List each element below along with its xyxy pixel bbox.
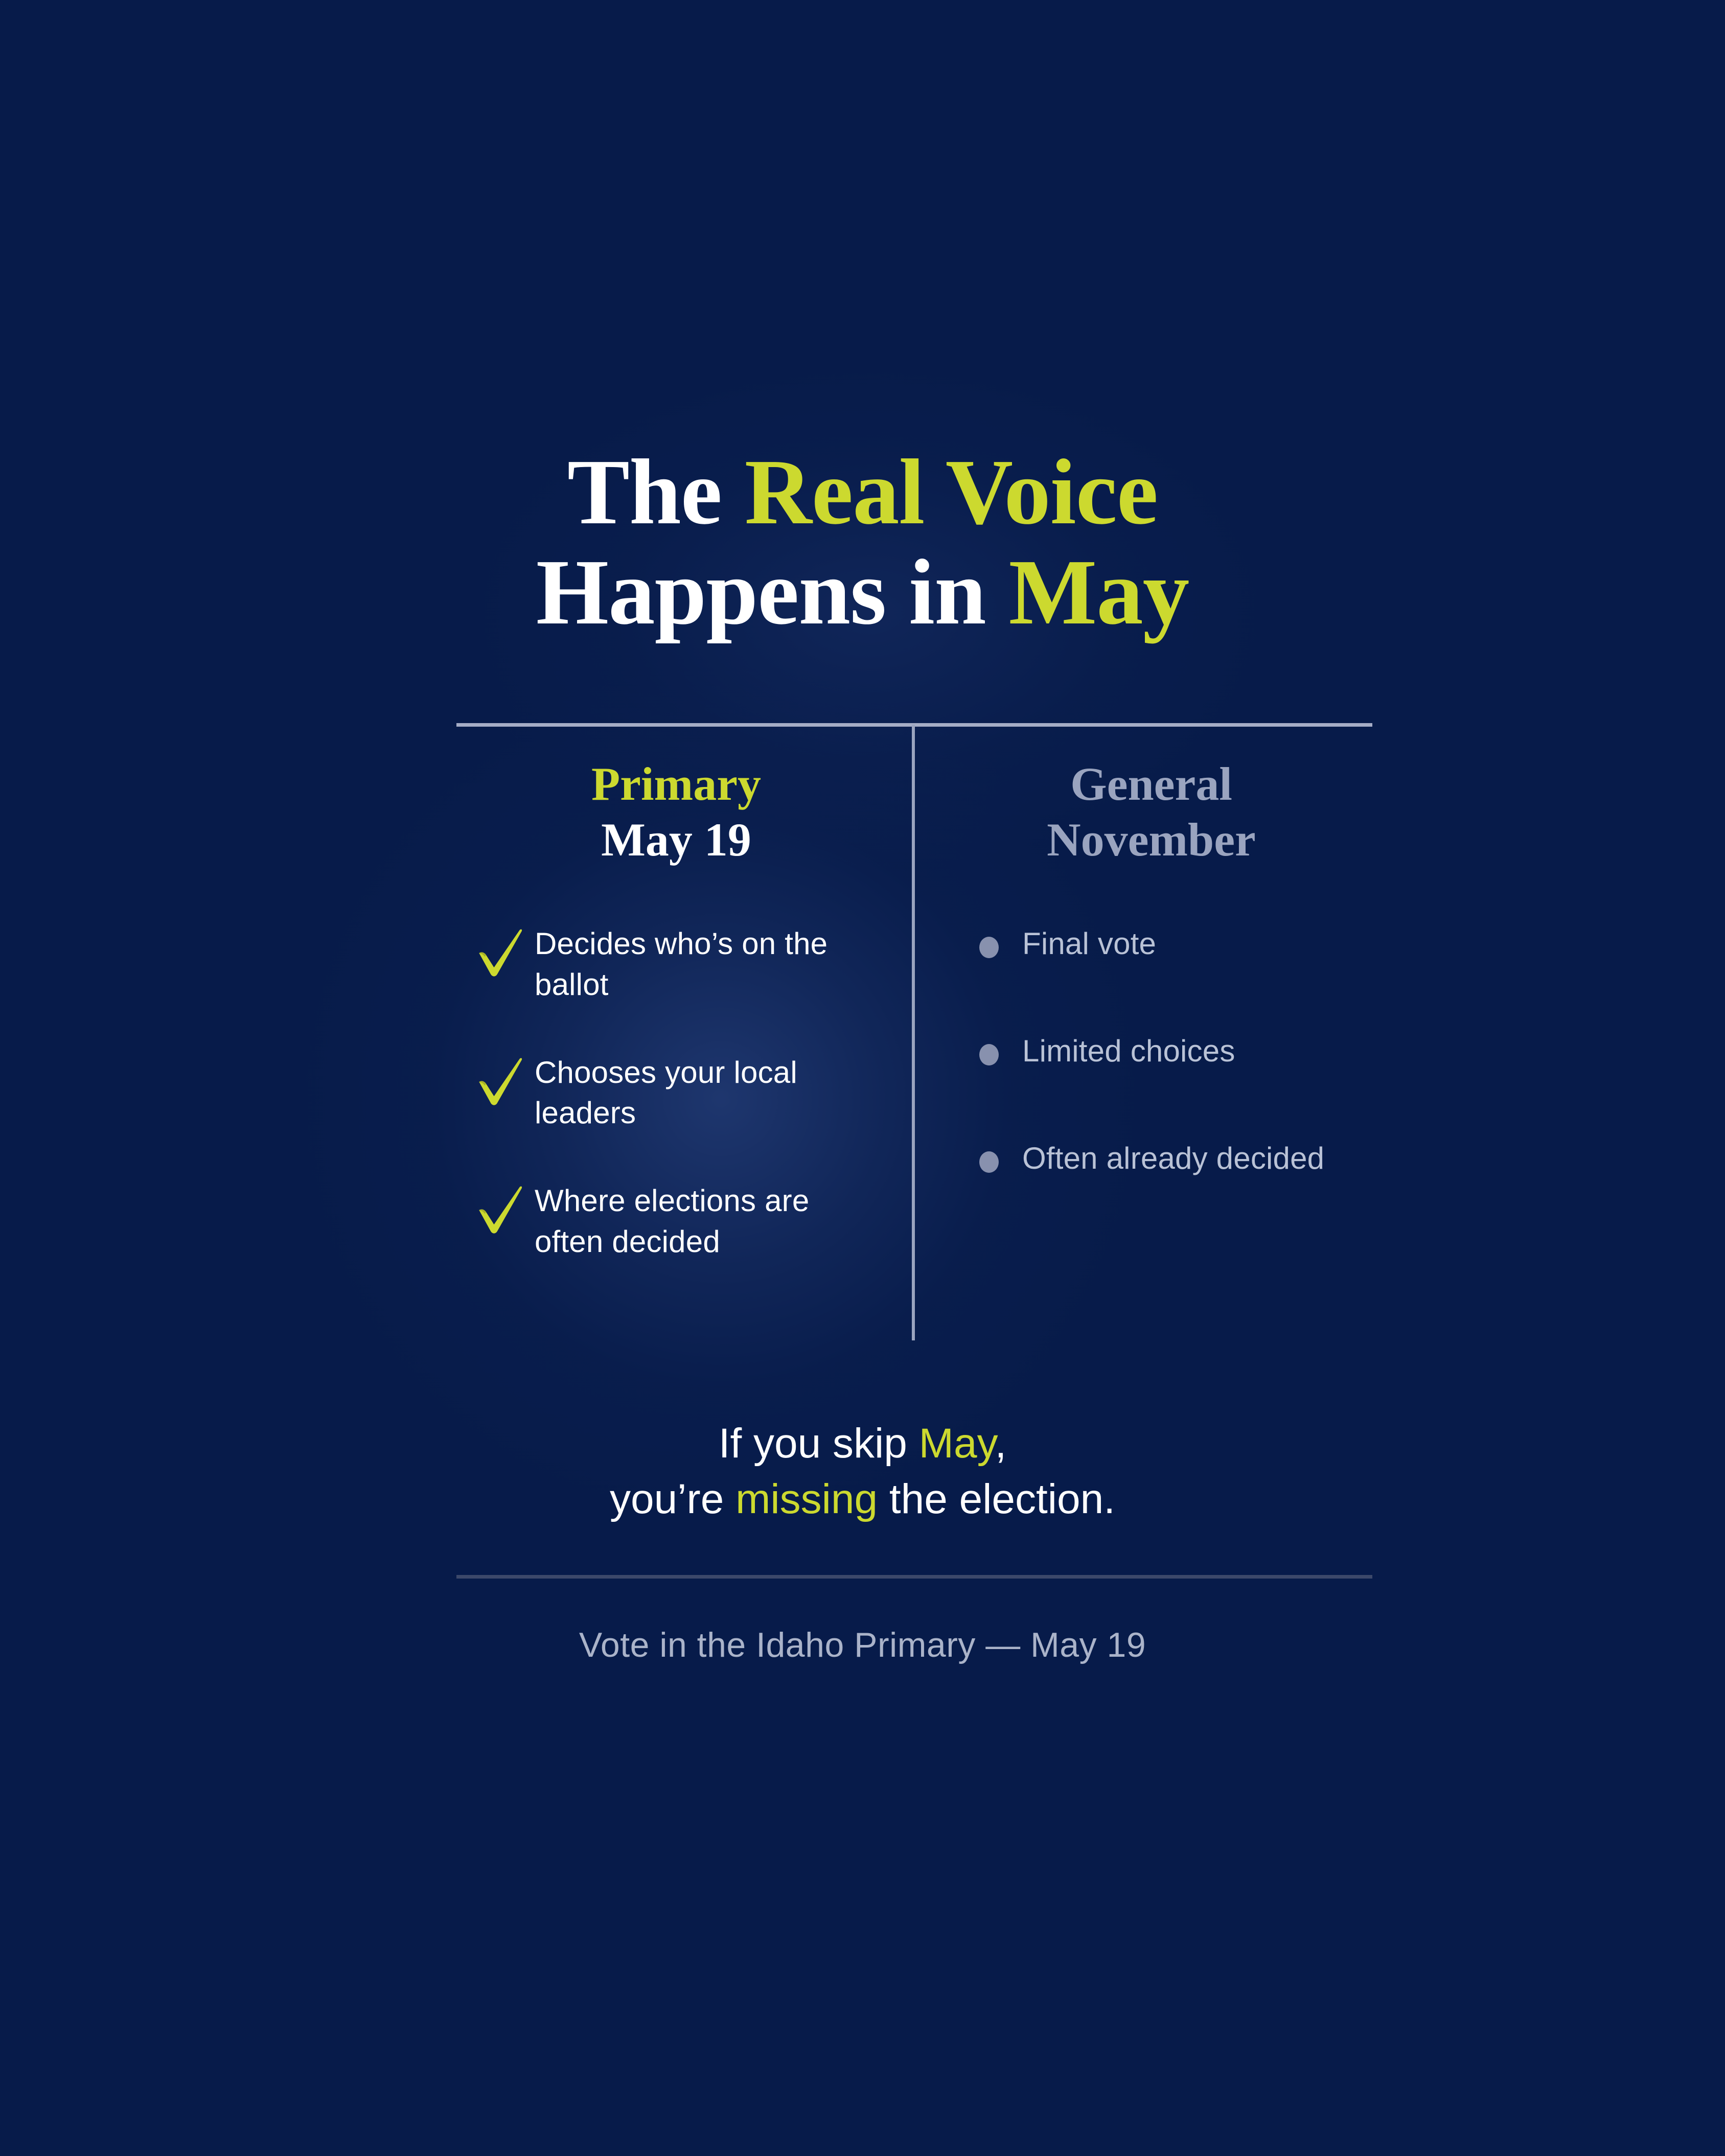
tagline-line-1-accent: May	[919, 1420, 995, 1467]
dot-icon	[956, 1138, 1022, 1173]
headline-line-1-plain: The	[567, 440, 745, 544]
column-primary-heading-title: Primary	[456, 756, 896, 812]
tagline-line-2-plain-b: the election.	[878, 1476, 1115, 1522]
column-primary-item-list: Decides who’s on the ballot Chooses your…	[456, 923, 896, 1262]
divider-bottom	[456, 1575, 1372, 1579]
footer-call-to-action: Vote in the Idaho Primary — May 19	[0, 1622, 1725, 1667]
list-item-label: Chooses your local leaders	[535, 1052, 852, 1134]
column-general-heading-date: November	[930, 812, 1372, 868]
list-item: Often already decided	[956, 1138, 1372, 1179]
headline-line-2-plain: Happens in	[536, 540, 1009, 644]
list-item-label: Decides who’s on the ballot	[535, 923, 852, 1005]
list-item-label: Final vote	[1022, 923, 1156, 964]
tagline: If you skip May, you’re missing the elec…	[0, 1416, 1725, 1527]
list-item-label: Often already decided	[1022, 1138, 1324, 1179]
list-item-label: Limited choices	[1022, 1031, 1235, 1072]
tagline-line-1-plain-b: ,	[995, 1420, 1006, 1467]
column-general-heading: General November	[930, 756, 1372, 867]
headline-line-1: The Real Voice	[0, 442, 1725, 542]
column-general-item-list: Final vote Limited choices Often already…	[930, 923, 1372, 1178]
column-general-heading-title: General	[930, 756, 1372, 812]
column-general: General November Final vote Limited choi…	[930, 756, 1372, 1245]
headline-line-2: Happens in May	[0, 542, 1725, 642]
poster-canvas: The Real Voice Happens in May Primary Ma…	[0, 0, 1725, 2156]
tagline-line-2: you’re missing the election.	[0, 1471, 1725, 1527]
check-icon	[466, 923, 535, 979]
column-primary: Primary May 19 Decides who’s on the ball…	[456, 756, 896, 1309]
tagline-line-1: If you skip May,	[0, 1416, 1725, 1471]
dot-icon	[956, 923, 1022, 958]
tagline-line-2-accent: missing	[735, 1476, 878, 1522]
list-item-label: Where elections are often decided	[535, 1180, 852, 1262]
tagline-line-1-plain-a: If you skip	[719, 1420, 919, 1467]
list-item: Final vote	[956, 923, 1372, 964]
check-icon	[466, 1052, 535, 1107]
column-primary-heading: Primary May 19	[456, 756, 896, 867]
list-item: Decides who’s on the ballot	[466, 923, 896, 1005]
column-primary-heading-date: May 19	[456, 812, 896, 868]
list-item: Chooses your local leaders	[466, 1052, 896, 1134]
list-item: Where elections are often decided	[466, 1180, 896, 1262]
headline-line-1-accent: Real Voice	[745, 440, 1158, 544]
page-title: The Real Voice Happens in May	[0, 442, 1725, 642]
tagline-line-2-plain-a: you’re	[610, 1476, 735, 1522]
divider-vertical-column-separator	[912, 725, 915, 1340]
list-item: Limited choices	[956, 1031, 1372, 1072]
check-icon	[466, 1180, 535, 1236]
headline-line-2-accent: May	[1009, 540, 1189, 644]
dot-icon	[956, 1031, 1022, 1065]
